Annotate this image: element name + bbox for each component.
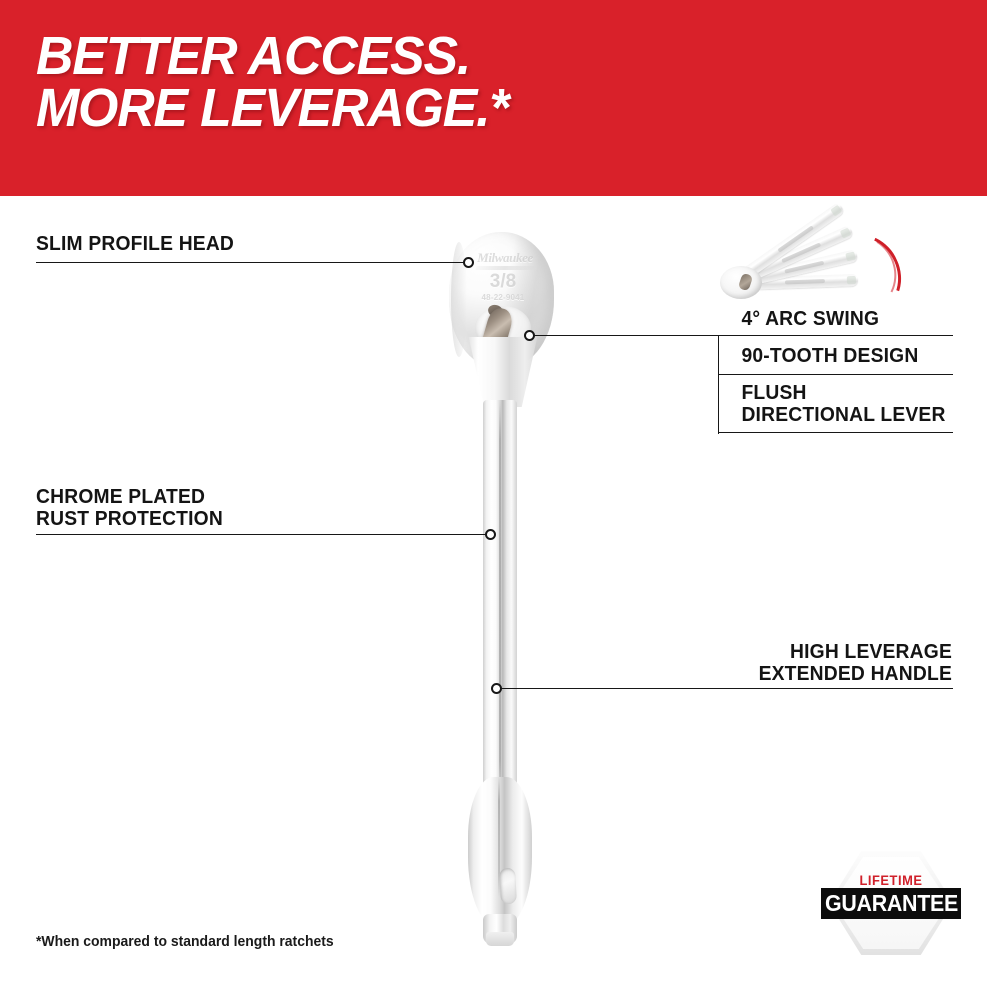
callout-leader-line-slim-profile-head bbox=[36, 262, 468, 263]
callout-label-high-leverage-extended-handle: HIGH LEVERAGE EXTENDED HANDLE bbox=[527, 641, 952, 685]
callout-label-chrome-plated-rust-protection: CHROME PLATED RUST PROTECTION bbox=[36, 486, 440, 530]
product-feature-callout-page: BETTER ACCESS. MORE LEVERAGE.* Milwaukee… bbox=[0, 0, 987, 988]
callout-divider-flush-directional-lever bbox=[718, 432, 953, 433]
page-title: BETTER ACCESS. MORE LEVERAGE.* bbox=[36, 30, 919, 134]
callout-anchor-dot-chrome-plated bbox=[485, 529, 496, 540]
shaft-highlight-line bbox=[499, 400, 501, 800]
milwaukee-logo: Milwaukee bbox=[470, 250, 540, 266]
callout-label-tooth-design: 90-TOOTH DESIGN bbox=[741, 345, 952, 367]
milwaukee-logo-underline bbox=[475, 266, 534, 270]
model-number-marking: 48-22-9041 bbox=[468, 293, 538, 302]
badge-lifetime-text: LIFETIME bbox=[827, 872, 956, 888]
badge-guarantee-text: GUARANTEE bbox=[825, 892, 958, 915]
hero-banner: BETTER ACCESS. MORE LEVERAGE.* bbox=[0, 0, 987, 196]
callout-anchor-dot-high-leverage bbox=[491, 683, 502, 694]
callout-leader-line-chrome-plated bbox=[36, 534, 488, 535]
ratchet-product-image: Milwaukee 3/8 48-22-9041 ↔ bbox=[420, 232, 590, 952]
hang-hole bbox=[499, 868, 517, 905]
callout-label-slim-profile-head: SLIM PROFILE HEAD bbox=[36, 233, 440, 255]
footnote-text: *When compared to standard length ratche… bbox=[36, 933, 334, 950]
handle-grip bbox=[468, 777, 532, 927]
lifetime-guarantee-badge: LIFETIME GUARANTEE bbox=[821, 851, 961, 955]
handle-end-cap bbox=[486, 932, 514, 946]
arc-arm-slot bbox=[785, 279, 825, 284]
callout-bracket-vertical bbox=[718, 335, 719, 434]
callout-anchor-dot-slim-profile-head bbox=[463, 257, 474, 268]
drive-size-marking: 3/8 bbox=[472, 272, 534, 292]
arc-swing-illustration bbox=[712, 232, 897, 312]
ratchet-neck bbox=[464, 337, 542, 407]
callout-label-flush-directional-lever: FLUSH DIRECTIONAL LEVER bbox=[741, 382, 952, 426]
badge-guarantee-bar: GUARANTEE bbox=[821, 888, 961, 919]
callout-leader-line-head-features bbox=[534, 335, 953, 336]
callout-leader-line-high-leverage bbox=[501, 688, 953, 689]
callout-divider-tooth-design bbox=[718, 374, 953, 375]
callout-label-arc-swing: 4° ARC SWING bbox=[741, 308, 952, 330]
